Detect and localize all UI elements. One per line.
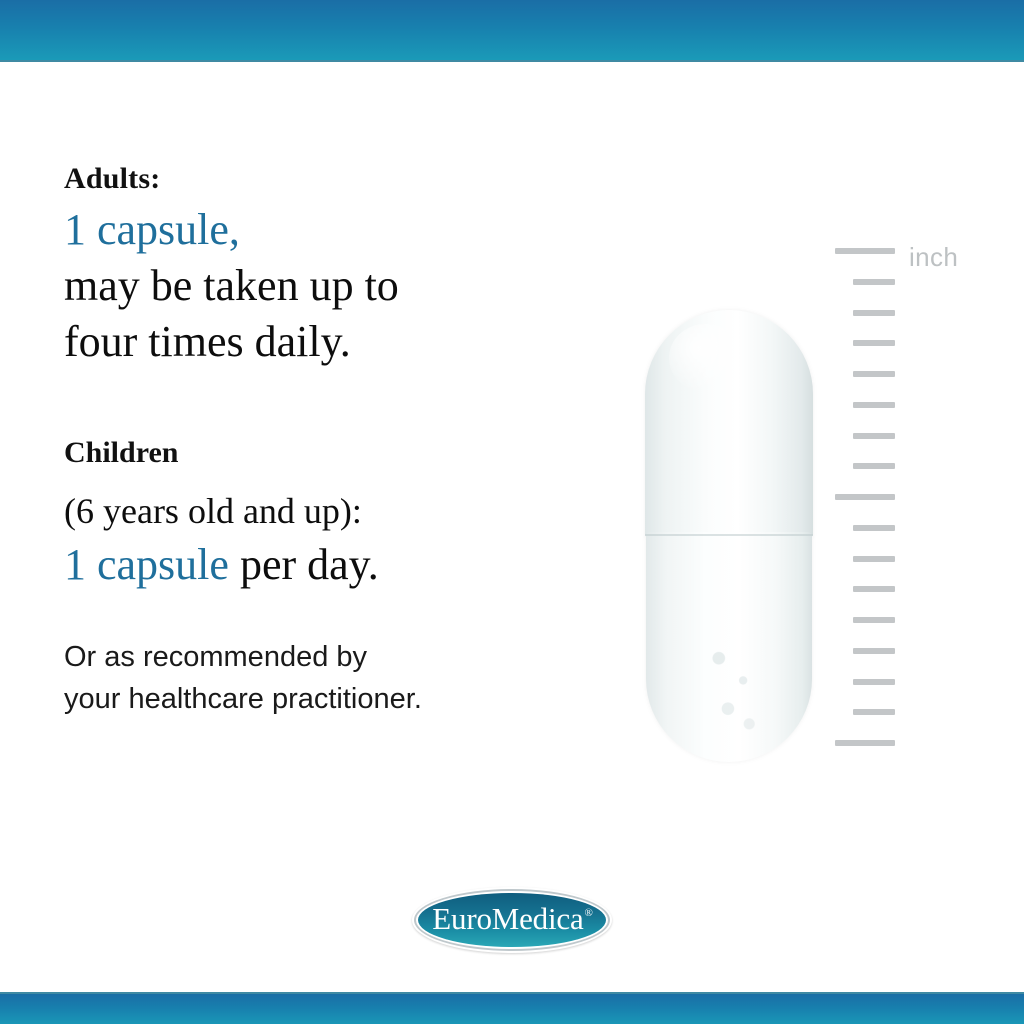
practitioner-note: Or as recommended by your healthcare pra…	[64, 636, 604, 720]
adults-dose-line-3: four times daily.	[64, 314, 604, 370]
ruler-tick-minor	[853, 279, 895, 285]
top-blue-band	[0, 0, 1024, 62]
ruler-tick-minor	[853, 371, 895, 377]
ruler-tick-minor	[853, 679, 895, 685]
euromedica-logo: EuroMedica®	[412, 887, 612, 953]
ruler-tick-minor	[853, 709, 895, 715]
children-dose-rest: per day.	[229, 540, 379, 589]
children-dose-line: 1 capsule per day.	[64, 537, 604, 592]
logo-inner-ellipse: EuroMedica®	[418, 893, 606, 947]
children-heading: Children	[64, 434, 604, 472]
registered-trademark-icon: ®	[585, 907, 593, 919]
adults-dose-line-2: may be taken up to	[64, 258, 604, 314]
ruler-tick-major	[835, 740, 895, 746]
ruler-unit-label: inch	[909, 242, 958, 273]
capsule-graphic	[645, 310, 813, 762]
bottom-blue-band	[0, 992, 1024, 1024]
capsule-body	[646, 532, 812, 762]
children-age-range: (6 years old and up):	[64, 488, 604, 535]
ruler-tick-minor	[853, 433, 895, 439]
capsule-image	[645, 310, 813, 762]
ruler-tick-minor	[853, 617, 895, 623]
dosage-text-column: Adults: 1 capsule, may be taken up to fo…	[64, 160, 604, 720]
ruler-tick-major	[835, 248, 895, 254]
ruler-tick-minor	[853, 586, 895, 592]
children-dose-highlight: 1 capsule	[64, 540, 229, 589]
product-dosage-panel: Adults: 1 capsule, may be taken up to fo…	[0, 0, 1024, 1024]
ruler-tick-minor	[853, 463, 895, 469]
ruler-tick-minor	[853, 556, 895, 562]
capsule-powder-texture	[696, 638, 772, 739]
ruler-tick-major	[835, 494, 895, 500]
ruler-tick-minor	[853, 402, 895, 408]
logo-wordmark: EuroMedica®	[432, 901, 591, 937]
capsule-cap	[645, 310, 813, 538]
ruler-tick-minor	[853, 310, 895, 316]
practitioner-note-line-1: Or as recommended by	[64, 636, 604, 678]
logo-brand-name: EuroMedica	[432, 901, 583, 936]
capsule-seam	[645, 534, 813, 536]
adults-heading: Adults:	[64, 160, 604, 198]
ruler-tick-minor	[853, 340, 895, 346]
inch-ruler: inch	[835, 248, 1005, 753]
ruler-tick-minor	[853, 648, 895, 654]
adults-dose-highlight: 1 capsule,	[64, 202, 604, 258]
ruler-tick-minor	[853, 525, 895, 531]
practitioner-note-line-2: your healthcare practitioner.	[64, 678, 604, 720]
